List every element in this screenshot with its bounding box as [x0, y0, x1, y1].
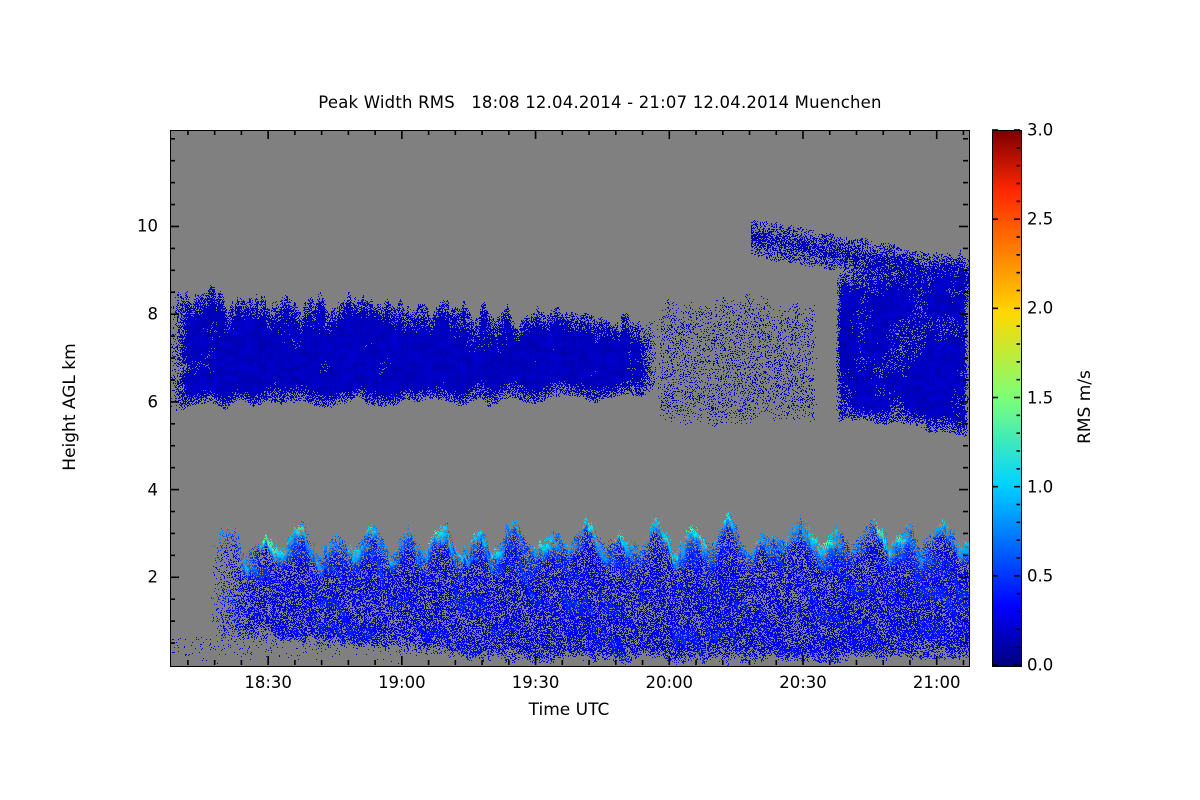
colorbar-label: RMS m/s: [1075, 277, 1095, 537]
heatmap-data-canvas: [171, 131, 969, 666]
xtick-19-00: 19:00: [378, 673, 426, 692]
xtick-20-30: 20:30: [779, 673, 827, 692]
colorbar[interactable]: [992, 130, 1022, 667]
colorbar-tick-2-5: 2.5: [1027, 210, 1053, 229]
xtick-19-30: 19:30: [512, 673, 560, 692]
ytick-4: 4: [98, 480, 158, 499]
plot-area[interactable]: [170, 130, 970, 667]
figure-title: Peak Width RMS 18:08 12.04.2014 - 21:07 …: [0, 93, 1200, 112]
ytick-8: 8: [98, 305, 158, 324]
ytick-2: 2: [98, 568, 158, 587]
colorbar-tick-0-0: 0.0: [1027, 656, 1053, 675]
xtick-21-00: 21:00: [913, 673, 961, 692]
y-axis-label: Height AGL km: [60, 277, 80, 537]
colorbar-tick-0-5: 0.5: [1027, 566, 1053, 585]
colorbar-tick-3-0: 3.0: [1027, 121, 1053, 140]
xtick-18-30: 18:30: [244, 673, 292, 692]
colorbar-tick-1-0: 1.0: [1027, 477, 1053, 496]
colorbar-gradient: [993, 131, 1021, 666]
colorbar-tick-2-0: 2.0: [1027, 299, 1053, 318]
lidar-rms-figure: Peak Width RMS 18:08 12.04.2014 - 21:07 …: [0, 0, 1200, 800]
colorbar-tick-1-5: 1.5: [1027, 388, 1053, 407]
ytick-6: 6: [98, 392, 158, 411]
x-axis-label: Time UTC: [170, 700, 968, 720]
xtick-20-00: 20:00: [646, 673, 694, 692]
ytick-10: 10: [98, 217, 158, 236]
